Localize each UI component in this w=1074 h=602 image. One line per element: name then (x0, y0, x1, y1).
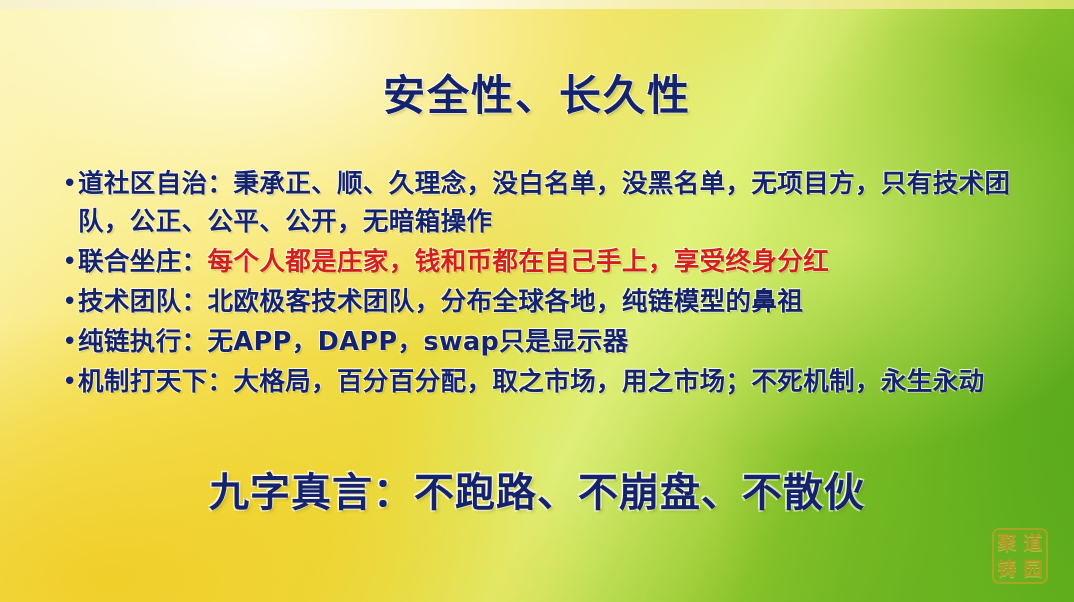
bullet-item-3: • 技术团队：北欧极客技术团队，分布全球各地，纯链模型的鼻祖 (62, 283, 1038, 321)
bullet-text-4: 纯链执行：无APP，DAPP，swap只是显示器 (78, 323, 1038, 361)
bullet-text-2: 联合坐庄：每个人都是庄家，钱和币都在自己手上，享受终身分红 (78, 243, 1038, 281)
seal-glyph-1: 聚 (994, 530, 1020, 556)
bullet-marker-icon: • (62, 283, 78, 321)
bullet-marker-icon: • (62, 165, 78, 203)
seal-glyph-4: 园 (1020, 556, 1046, 582)
slide-tagline: 九字真言：不跑路、不崩盘、不散伙 (0, 460, 1074, 518)
bullet-label-1: 道社区自治： (78, 169, 233, 199)
presentation-slide: 安全性、长久性 • 道社区自治：秉承正、顺、久理念，没白名单，没黑名单，无项目方… (0, 0, 1074, 602)
bullet-item-1: • 道社区自治：秉承正、顺、久理念，没白名单，没黑名单，无项目方，只有技术团队，… (62, 165, 1038, 241)
seal-watermark-icon: 聚 道 铸 园 (992, 528, 1048, 584)
slide-content: 安全性、长久性 • 道社区自治：秉承正、顺、久理念，没白名单，没黑名单，无项目方… (0, 0, 1074, 602)
seal-glyph-2: 道 (1020, 530, 1046, 556)
bullet-label-2: 联合坐庄： (78, 247, 208, 277)
bullet-body-4: 无APP，DAPP，swap只是显示器 (208, 327, 629, 357)
bullet-label-3: 技术团队： (78, 287, 208, 317)
bullet-marker-icon: • (62, 323, 78, 361)
bullet-emphasis-2: 每个人都是庄家，钱和币都在自己手上，享受终身分红 (208, 247, 830, 277)
bullet-item-2: • 联合坐庄：每个人都是庄家，钱和币都在自己手上，享受终身分红 (62, 243, 1038, 281)
bullet-text-3: 技术团队：北欧极客技术团队，分布全球各地，纯链模型的鼻祖 (78, 283, 1038, 321)
bullet-item-5: • 机制打天下：大格局，百分百分配，取之市场，用之市场；不死机制，永生永动 (62, 363, 1038, 401)
seal-glyph-3: 铸 (994, 556, 1020, 582)
bullet-body-3: 北欧极客技术团队，分布全球各地，纯链模型的鼻祖 (208, 287, 804, 317)
bullet-item-4: • 纯链执行：无APP，DAPP，swap只是显示器 (62, 323, 1038, 361)
bullet-list: • 道社区自治：秉承正、顺、久理念，没白名单，没黑名单，无项目方，只有技术团队，… (62, 165, 1038, 403)
bullet-label-4: 纯链执行： (78, 327, 208, 357)
bullet-marker-icon: • (62, 243, 78, 281)
bullet-label-5: 机制打天下： (78, 367, 233, 397)
bullet-text-5: 机制打天下：大格局，百分百分配，取之市场，用之市场；不死机制，永生永动 (78, 363, 1038, 401)
bullet-text-1: 道社区自治：秉承正、顺、久理念，没白名单，没黑名单，无项目方，只有技术团队，公正… (78, 165, 1038, 241)
slide-title: 安全性、长久性 (0, 62, 1074, 123)
bullet-marker-icon: • (62, 363, 78, 401)
bullet-body-5: 大格局，百分百分配，取之市场，用之市场；不死机制，永生永动 (233, 367, 984, 397)
